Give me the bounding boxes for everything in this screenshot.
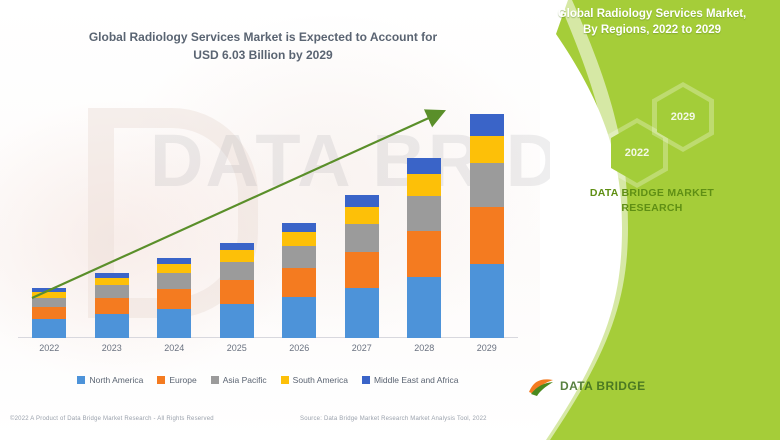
hex-badge-end-year-label: 2029 [657,87,709,147]
bar-segment [470,114,504,136]
legend-swatch-icon [157,376,165,384]
bar-segment [157,264,191,273]
bar-2029 [470,114,504,338]
panel-title: Global Radiology Services Market, By Reg… [530,6,774,38]
bar-segment [345,288,379,338]
bar-segment [157,289,191,309]
bar-2027 [345,195,379,338]
x-axis-labels: 20222023202420252026202720282029 [18,343,518,359]
page-title-line1: Global Radiology Services Market is Expe… [18,28,508,46]
x-axis-label-2029: 2029 [463,343,511,353]
bar-segment [345,224,379,252]
bar-segment [282,297,316,338]
bar-segment [220,304,254,338]
bar-segment [407,231,441,276]
bar-segment [407,158,441,174]
legend-label: Middle East and Africa [374,375,459,385]
bar-segment [220,243,254,250]
legend-swatch-icon [362,376,370,384]
brand-panel: Global Radiology Services Market, By Reg… [510,0,780,440]
bar-segment [407,277,441,338]
bar-segment [345,207,379,224]
bar-2026 [282,223,316,338]
legend-swatch-icon [211,376,219,384]
bar-2022 [32,288,66,338]
footer-copyright: ©2022 A Product of Data Bridge Market Re… [10,416,214,422]
bar-segment [157,309,191,338]
bar-segment [95,298,129,314]
panel-title-line1: Global Radiology Services Market, [530,6,774,22]
x-axis-label-2023: 2023 [88,343,136,353]
panel-brand-line2: RESEARCH [530,201,774,216]
bar-segment [95,314,129,338]
legend-item[interactable]: Asia Pacific [211,375,267,385]
page-title: Global Radiology Services Market is Expe… [18,28,508,64]
chart-infographic: DATA BRIDGE Global Radiology Services Ma… [0,0,780,440]
bar-segment [32,319,66,338]
bar-segment [470,136,504,163]
panel-brand: DATA BRIDGE MARKET RESEARCH [530,186,774,216]
legend-label: Asia Pacific [223,375,267,385]
bar-segment [220,280,254,304]
chart-baseline [18,337,518,338]
chart-plot-area [18,100,518,338]
bar-segment [345,195,379,207]
bar-segment [220,262,254,281]
page-title-line2: USD 6.03 Billion by 2029 [18,46,508,64]
legend-item[interactable]: South America [281,375,348,385]
dbmr-logo-text: DATA BRIDGE [560,379,646,393]
legend-label: North America [89,375,143,385]
bar-segment [95,285,129,298]
bar-2028 [407,158,441,338]
x-axis-label-2025: 2025 [213,343,261,353]
bar-segment [157,273,191,289]
bar-segment [407,174,441,196]
x-axis-label-2024: 2024 [150,343,198,353]
legend-item[interactable]: North America [77,375,143,385]
dbmr-logo: DATA BRIDGE [528,375,646,397]
legend-label: Europe [169,375,196,385]
legend-item[interactable]: Middle East and Africa [362,375,459,385]
bar-segment [470,163,504,208]
x-axis-label-2028: 2028 [400,343,448,353]
bar-2024 [157,258,191,338]
bar-2025 [220,243,254,338]
bar-segment [220,250,254,261]
legend-item[interactable]: Europe [157,375,196,385]
chart-legend: North AmericaEuropeAsia PacificSouth Ame… [18,375,518,385]
bar-segment [470,264,504,338]
panel-title-line2: By Regions, 2022 to 2029 [530,22,774,38]
footer-source: Source: Data Bridge Market Research Mark… [300,416,487,422]
dbmr-bridge-icon [528,375,554,397]
bar-segment [470,207,504,263]
x-axis-label-2026: 2026 [275,343,323,353]
bar-segment [407,196,441,232]
legend-swatch-icon [281,376,289,384]
bar-segment [282,223,316,232]
bar-segment [32,307,66,319]
bar-segment [282,232,316,246]
bar-segment [32,298,66,308]
legend-swatch-icon [77,376,85,384]
panel-shape [510,0,780,440]
bar-segment [345,252,379,288]
bar-2023 [95,273,129,338]
legend-label: South America [293,375,348,385]
bar-segment [282,268,316,297]
x-axis-label-2022: 2022 [25,343,73,353]
bar-segment [95,278,129,285]
x-axis-label-2027: 2027 [338,343,386,353]
bar-segment [282,246,316,269]
panel-brand-line1: DATA BRIDGE MARKET [530,186,774,201]
